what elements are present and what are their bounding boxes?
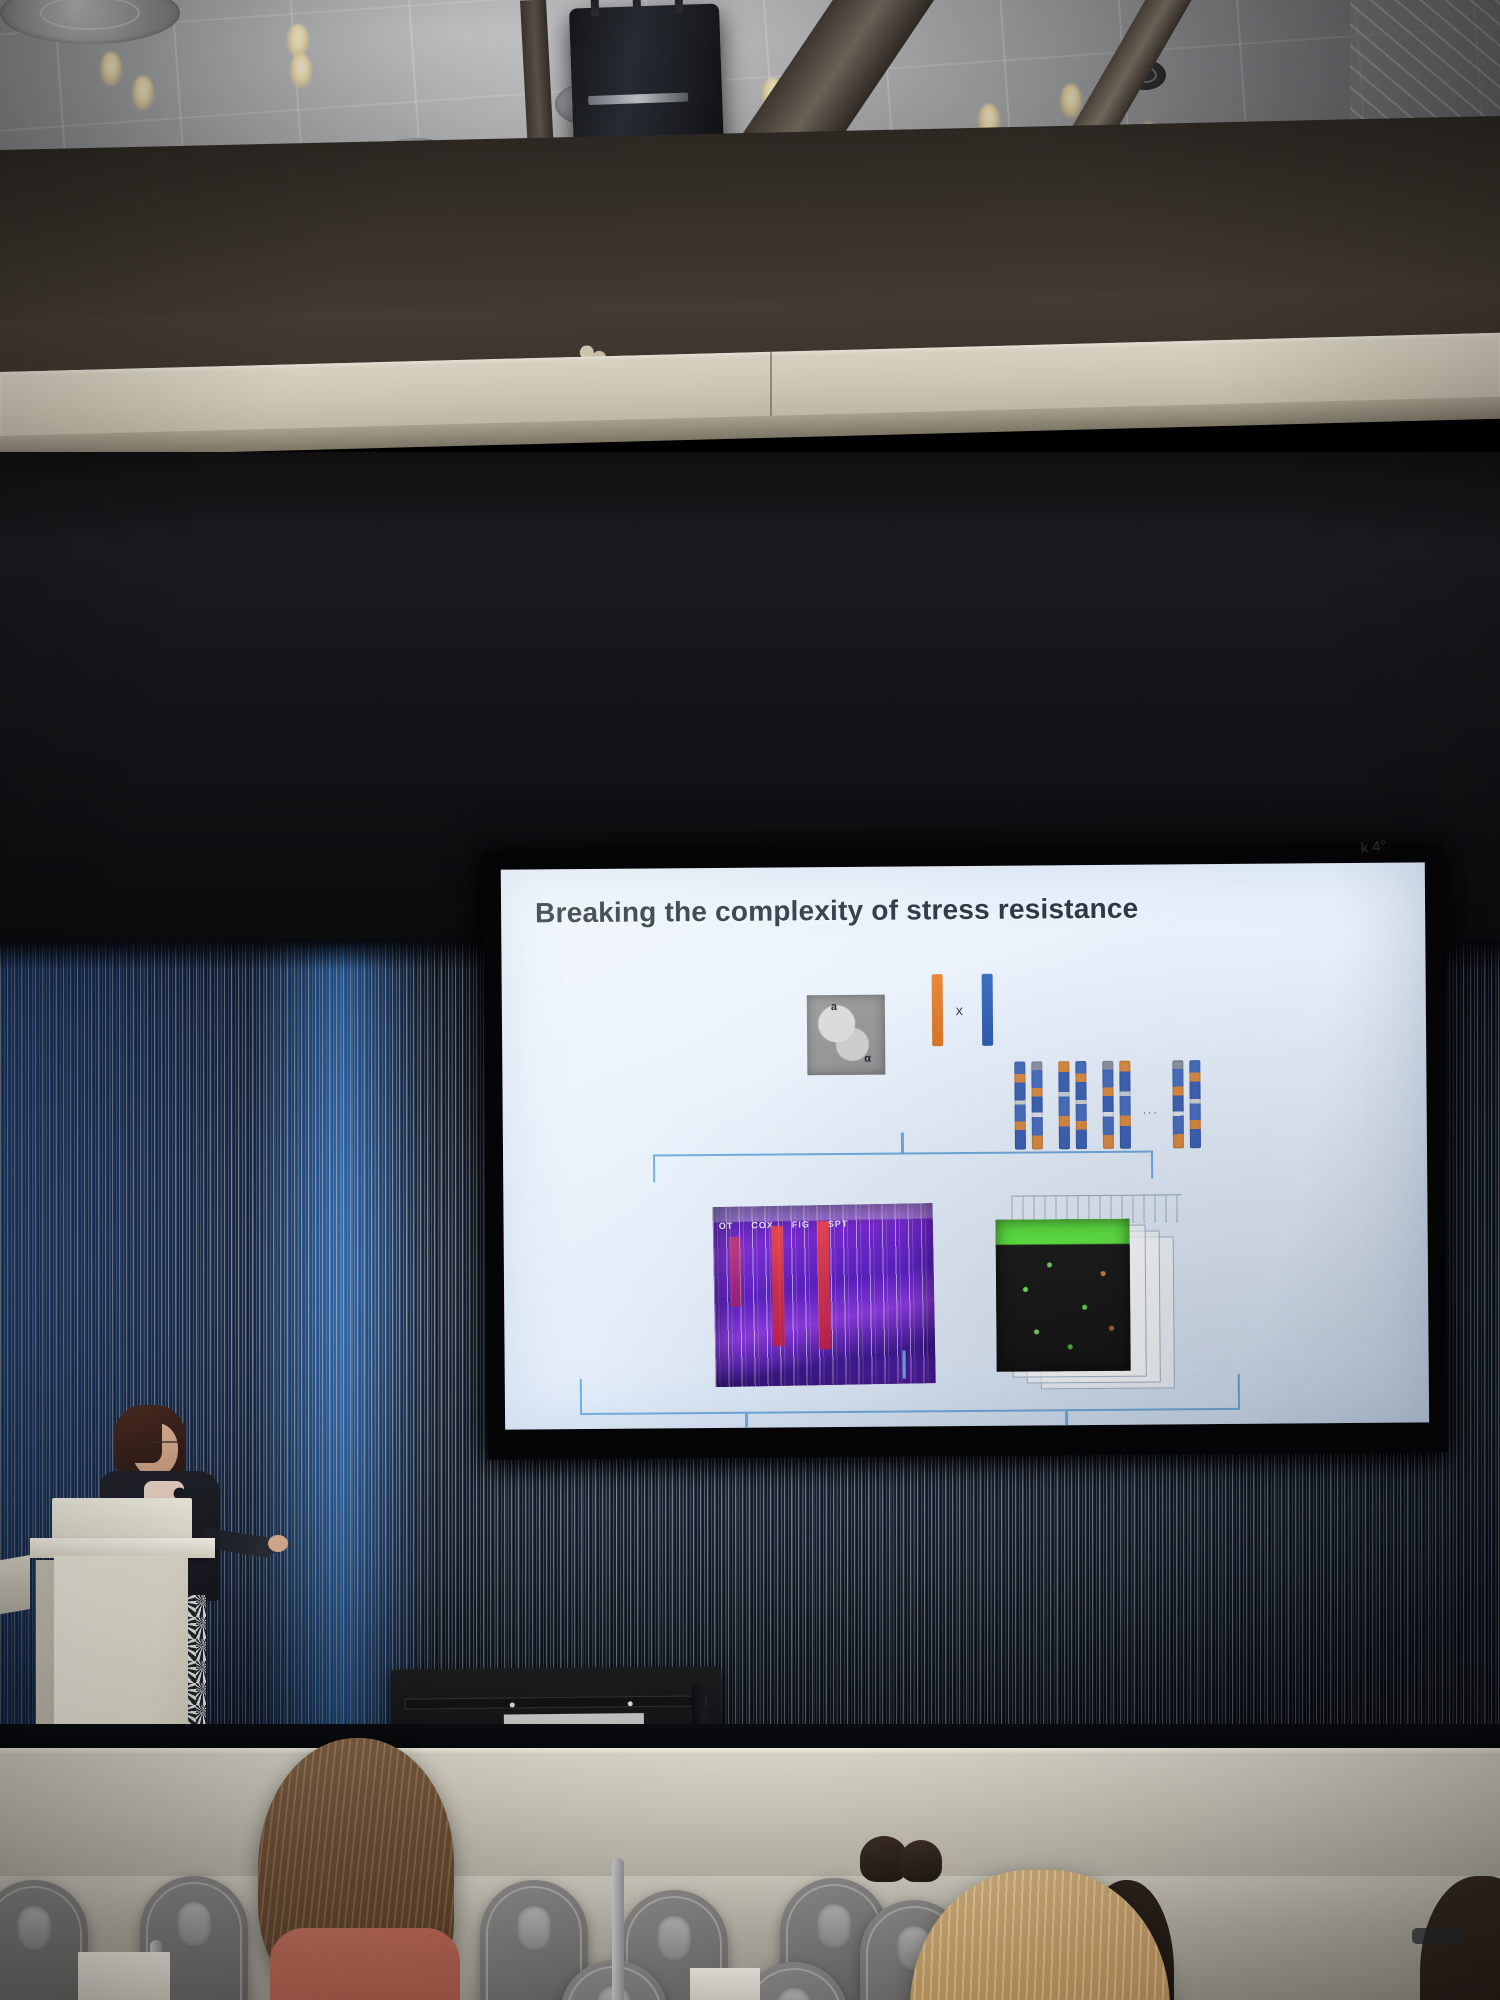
ceiling-soffit-lower xyxy=(0,116,1500,320)
bracket-drop xyxy=(1065,1411,1068,1429)
recombinant-chromosome xyxy=(1075,1061,1087,1149)
audience-member-torso xyxy=(270,1928,460,2000)
bracket-stem-lower xyxy=(903,1350,906,1378)
panel-label-genetic-interactions: Genetic Interactions xyxy=(655,1426,771,1430)
audience-head xyxy=(900,1840,942,1882)
speaker-hand xyxy=(268,1535,288,1552)
recombinant-chromosome xyxy=(1031,1061,1043,1149)
yeast-micrograph-image xyxy=(807,995,886,1076)
heatmap-hot-band xyxy=(817,1221,831,1349)
audience-table-cloth xyxy=(78,1952,170,2000)
projector-lens xyxy=(588,93,688,105)
projection-screen[interactable]: Breaking the complexity of stress resist… xyxy=(501,862,1429,1429)
audience-chair-frame xyxy=(612,1858,624,2000)
panel-label-phenotypic-screens: Phenotypic Screens xyxy=(855,1426,971,1430)
stage-front-wall-cap xyxy=(0,1748,1500,1756)
presentation-slide: Breaking the complexity of stress resist… xyxy=(501,862,1429,1429)
av-cart-strip xyxy=(406,1696,706,1708)
heatmap-hot-band xyxy=(729,1237,742,1307)
bracket-lower xyxy=(580,1374,1240,1415)
recombinant-chromosome xyxy=(1058,1061,1070,1149)
av-cart-screw xyxy=(510,1702,515,1707)
screen-smudge-mark: k 4° xyxy=(1360,837,1388,857)
bracket-upper xyxy=(653,1151,1153,1183)
audience-glasses xyxy=(1412,1928,1460,1944)
recombinant-chromosome xyxy=(1119,1061,1131,1149)
recombinant-chromosome xyxy=(1014,1062,1026,1150)
recombinant-chromosome xyxy=(1172,1060,1184,1148)
microarray-image-stack xyxy=(995,1194,1187,1391)
podium-front-panel xyxy=(54,1556,188,1746)
yeast-label-a: a xyxy=(831,1001,837,1013)
slide-title: Breaking the complexity of stress resist… xyxy=(535,893,1139,930)
heatmap-hot-band xyxy=(771,1226,785,1346)
podium-top xyxy=(52,1498,192,1542)
speaker-hair-front xyxy=(116,1407,162,1463)
conference-room-scene: Breaking the complexity of stress resist… xyxy=(0,0,1500,2000)
heatmap-label: FIG xyxy=(792,1219,810,1237)
parent-chromosome-blue xyxy=(982,974,994,1046)
cross-symbol: x xyxy=(956,1002,963,1018)
podium-ledge xyxy=(30,1538,215,1558)
podium-side-panel xyxy=(36,1560,56,1746)
av-cart-screw xyxy=(628,1701,633,1706)
projector-mount-rod xyxy=(632,0,641,14)
speaker-glasses xyxy=(150,1441,178,1449)
audience-table-cloth xyxy=(690,1968,760,2000)
heatmap-label: SPT xyxy=(828,1219,849,1237)
chromosome-ellipsis: ... xyxy=(1143,1102,1159,1116)
projector-mount-rod xyxy=(590,0,599,16)
parent-chromosome-orange xyxy=(932,974,944,1046)
audience-chair xyxy=(0,1880,88,2000)
microarray-image xyxy=(996,1219,1131,1372)
stage-front-wall xyxy=(0,1748,1500,1878)
yeast-label-alpha: α xyxy=(864,1053,871,1065)
projection-screen-frame: Breaking the complexity of stress resist… xyxy=(483,844,1448,1460)
projector-mount-rod xyxy=(674,0,683,13)
podium-confidence-monitor xyxy=(0,1555,30,1615)
recombinant-chromosome xyxy=(1189,1060,1201,1148)
bracket-stem-upper xyxy=(901,1132,904,1154)
recombinant-chromosome xyxy=(1102,1061,1114,1149)
